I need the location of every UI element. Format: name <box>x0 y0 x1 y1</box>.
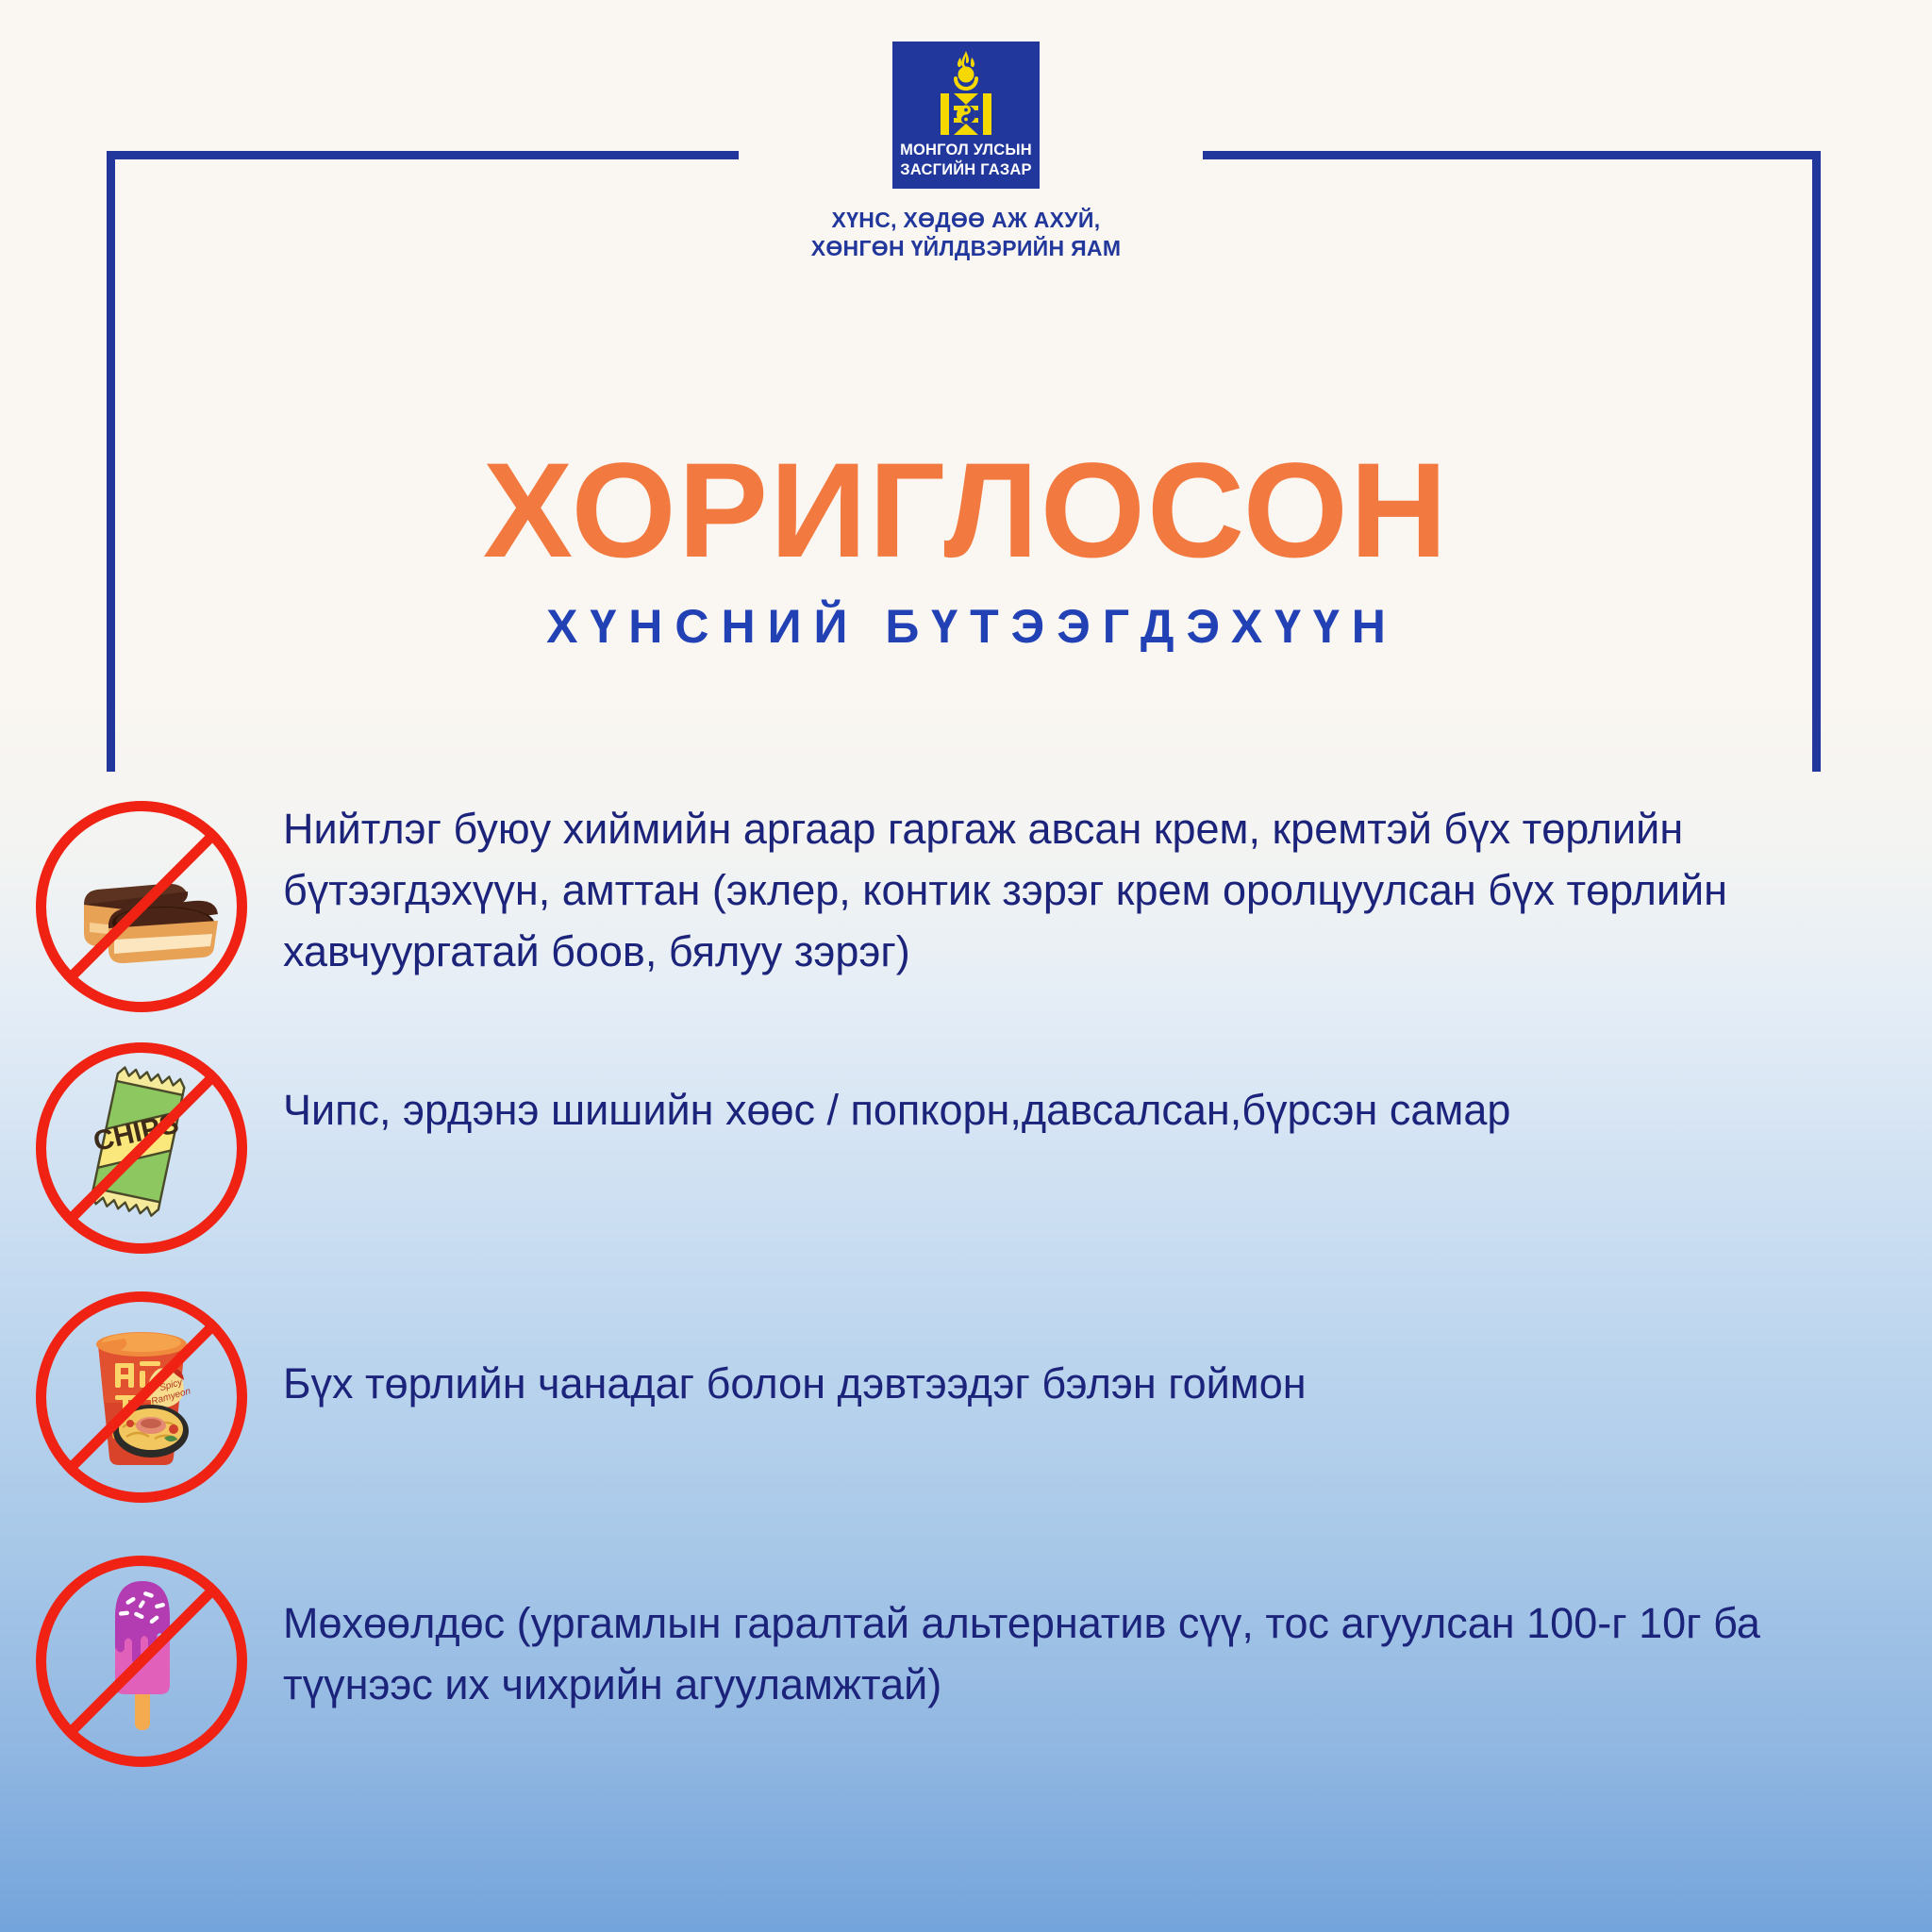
prohibition-ring <box>36 801 247 1012</box>
eclair-pastry-icon <box>36 801 247 1012</box>
popsicle-icecream-icon <box>36 1556 247 1767</box>
list-item-text: Мөхөөлдөс (ургамлын гаралтай альтернатив… <box>283 1552 1932 1716</box>
list-item: Spicy Ramyeon <box>0 1288 1932 1503</box>
logo-text-line2: ЗАСГИЙН ГАЗАР <box>892 160 1040 180</box>
icon-cell: CHIPS <box>0 1039 283 1254</box>
ministry-line-1: ХҮНС, ХӨДӨӨ АЖ АХУЙ, <box>0 206 1932 234</box>
page-title: ХОРИГЛОСОН <box>0 443 1932 578</box>
logo-text: МОНГОЛ УЛСЫН ЗАСГИЙН ГАЗАР <box>892 141 1040 180</box>
prohibited-items-list: Нийтлэг буюу хиймийн аргаар гаргаж авсан… <box>0 797 1932 1791</box>
instant-noodle-cup-icon: Spicy Ramyeon <box>36 1291 247 1503</box>
title-block: ХОРИГЛОСОН ХҮНСНИЙ БҮТЭЭГДЭХҮҮН <box>0 443 1932 650</box>
header: МОНГОЛ УЛСЫН ЗАСГИЙН ГАЗАР ХҮНС, ХӨДӨӨ А… <box>0 0 1932 263</box>
ministry-line-2: ХӨНГӨН ҮЙЛДВЭРИЙН ЯАМ <box>0 234 1932 262</box>
prohibition-ring <box>36 1556 247 1767</box>
list-item: CHIPS Чипс, эрдэнэ шишийн хөөс / попкорн… <box>0 1039 1932 1254</box>
page-subtitle: ХҮНСНИЙ БҮТЭЭГДЭХҮҮН <box>0 603 1932 650</box>
government-logo: МОНГОЛ УЛСЫН ЗАСГИЙН ГАЗАР <box>892 42 1040 189</box>
icon-cell: Spicy Ramyeon <box>0 1288 283 1503</box>
icon-cell <box>0 1552 283 1767</box>
list-item-text: Чипс, эрдэнэ шишийн хөөс / попкорн,давса… <box>283 1039 1680 1141</box>
poster-root: МОНГОЛ УЛСЫН ЗАСГИЙН ГАЗАР ХҮНС, ХӨДӨӨ А… <box>0 0 1932 1932</box>
prohibition-ring <box>36 1291 247 1503</box>
list-item: Нийтлэг буюу хиймийн аргаар гаргаж авсан… <box>0 797 1932 1012</box>
list-item-text: Бүх төрлийн чанадаг болон дэвтээдэг бэлэ… <box>283 1288 1476 1415</box>
logo-text-line1: МОНГОЛ УЛСЫН <box>892 141 1040 160</box>
prohibition-ring <box>36 1042 247 1254</box>
icon-cell <box>0 797 283 1012</box>
list-item-text: Нийтлэг буюу хиймийн аргаар гаргаж авсан… <box>283 797 1932 982</box>
soyombo-emblem <box>923 49 1009 140</box>
list-item: Мөхөөлдөс (ургамлын гаралтай альтернатив… <box>0 1552 1932 1767</box>
chips-bag-icon: CHIPS <box>36 1042 247 1254</box>
ministry-name: ХҮНС, ХӨДӨӨ АЖ АХУЙ, ХӨНГӨН ҮЙЛДВЭРИЙН Я… <box>0 206 1932 263</box>
